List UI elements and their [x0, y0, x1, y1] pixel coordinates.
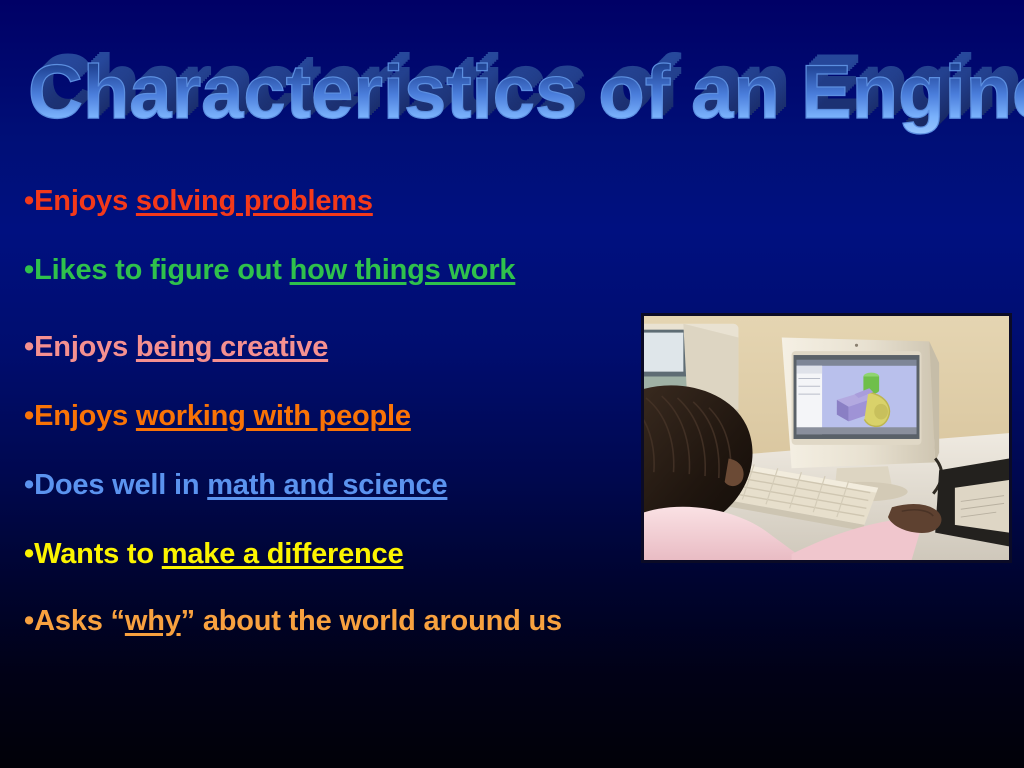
- bullet-item-enjoys-working-with-people: •Enjoys working with people: [24, 399, 411, 433]
- bullet-dot-icon: •: [24, 331, 34, 363]
- bullet-text-plain: Enjoys: [34, 400, 136, 432]
- photo-side-tray: [935, 458, 1009, 546]
- student-at-computer-photo: [641, 313, 1012, 563]
- photo-illustration: [644, 316, 1009, 560]
- bullet-dot-icon: •: [24, 469, 34, 501]
- bullet-item-likes-to-figure-out-how-things-work: •Likes to figure out how things work: [24, 253, 515, 287]
- bullet-text-plain: Enjoys: [34, 331, 136, 363]
- presentation-slide: Characteristics of an Engineering Studen…: [0, 0, 1024, 768]
- bullet-item-enjoys-being-creative: •Enjoys being creative: [24, 330, 328, 364]
- bullet-text-plain: Does well in: [34, 469, 207, 501]
- bullet-dot-icon: •: [24, 605, 34, 637]
- slide-title-wordart: Characteristics of an Engineering Studen…: [0, 22, 1024, 140]
- bullet-text-plain: Enjoys: [34, 185, 136, 217]
- bullet-text-underlined: working with people: [136, 400, 411, 432]
- bullet-text-underlined: make a difference: [162, 538, 404, 570]
- bullet-text-underlined: solving problems: [136, 185, 373, 217]
- bullet-text-underlined: being creative: [136, 331, 328, 363]
- bullet-dot-icon: •: [24, 254, 34, 286]
- bullet-dot-icon: •: [24, 400, 34, 432]
- bullet-item-does-well-in-math-and-science: •Does well in math and science: [24, 468, 447, 502]
- bullet-item-wants-to-make-a-difference: •Wants to make a difference: [24, 537, 403, 571]
- bullet-dot-icon: •: [24, 185, 34, 217]
- bullet-text-plain: Likes to figure out: [34, 254, 289, 286]
- bullet-text-trailing: ” about the world around us: [181, 605, 562, 637]
- bullet-item-enjoys-solving-problems: •Enjoys solving problems: [24, 184, 373, 218]
- bullet-text-underlined: how things work: [290, 254, 516, 286]
- bullet-text-underlined: math and science: [207, 469, 447, 501]
- bullet-item-asks-why-about-the-world-around-us: •Asks “why” about the world around us: [24, 604, 562, 638]
- title-svg: Characteristics of an Engineering Studen…: [0, 22, 1024, 140]
- page-title: Characteristics of an Engineering Studen…: [28, 50, 1024, 135]
- bullet-text-underlined: why: [125, 605, 181, 637]
- bullet-dot-icon: •: [24, 538, 34, 570]
- bullet-text-plain: Wants to: [34, 538, 162, 570]
- bullet-text-plain: Asks “: [34, 605, 125, 637]
